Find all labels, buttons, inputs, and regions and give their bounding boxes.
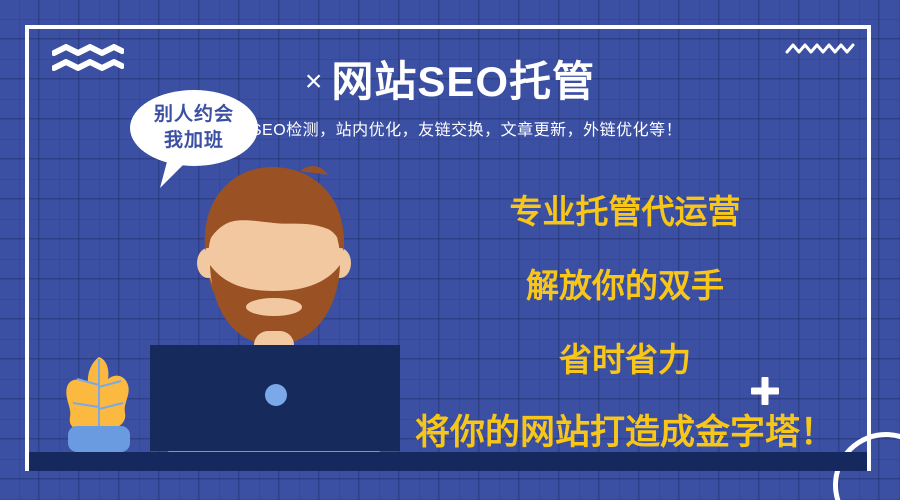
potted-plant-illustration [55,345,147,455]
page-subtitle: 含：SEO检测，站内优化，友链交换，文章更新，外链优化等！ [0,116,900,140]
title-cross-mark: × [305,65,324,98]
desk-surface [29,452,867,471]
seo-hosting-banner: 别人约会 我加班 ×网站SEO托管 含：SEO检测，站内优化，友链交换，文章更新… [0,0,900,500]
person-with-laptop-illustration [150,155,400,455]
slogan-line-4: 将你的网站打造成金字塔！ [370,412,880,454]
slogan-line-3: 省时省力 [370,340,880,380]
slogan-line-2: 解放你的双手 [370,266,880,306]
page-title: ×网站SEO托管 [0,48,900,109]
title-text: 网站SEO托管 [331,58,595,105]
slogan-list: 专业托管代运营 解放你的双手 省时省力 将你的网站打造成金字塔！ [370,192,880,454]
slogan-line-1: 专业托管代运营 [370,192,880,232]
